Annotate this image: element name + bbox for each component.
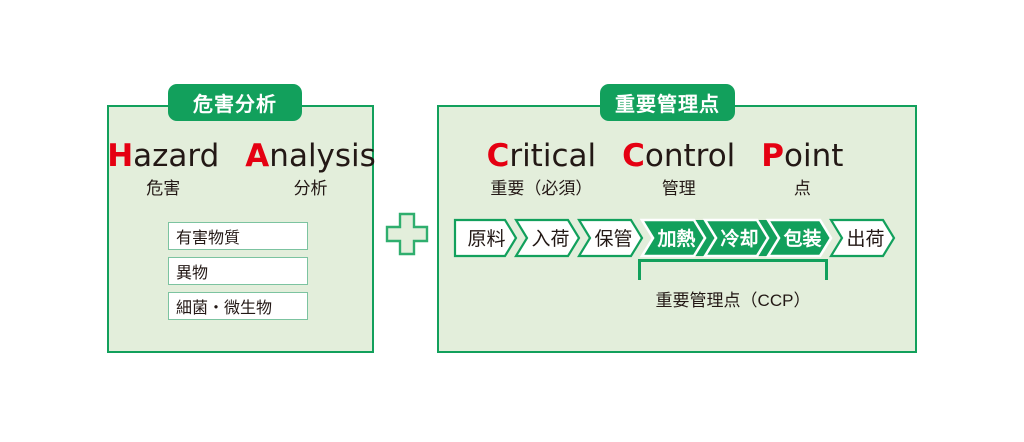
acronym-english-hazard: Hazard <box>107 138 219 174</box>
acronym-term-analysis: Analysis 分析 <box>245 138 376 201</box>
process-step[interactable]: 加熱 <box>642 220 705 256</box>
acronym-initial-h: H <box>107 138 133 174</box>
acronym-initial-p: P <box>761 138 784 174</box>
list-item: 有害物質 <box>168 222 308 250</box>
acronym-rest-control: ontrol <box>645 138 735 174</box>
process-step-label: 原料 <box>467 228 505 250</box>
acronym-term-control: Control 管理 <box>622 138 735 201</box>
process-step-label: 保管 <box>594 228 632 250</box>
list-item: 異物 <box>168 257 308 285</box>
acronym-initial-a: A <box>245 138 269 174</box>
acronym-english-analysis: Analysis <box>245 138 376 174</box>
ccp-bracket-icon <box>638 259 828 281</box>
acronym-term-hazard: Hazard 危害 <box>107 138 219 201</box>
list-item: 細菌・微生物 <box>168 292 308 320</box>
hazard-analysis-badge: 危害分析 <box>168 84 302 121</box>
plus-icon <box>385 212 429 256</box>
acronym-term-critical: Critical 重要（必須） <box>487 138 597 201</box>
hazard-acronym-row: Hazard 危害 Analysis 分析 <box>114 138 369 201</box>
acronym-rest-critical: ritical <box>509 138 596 174</box>
acronym-initial-c2: C <box>622 138 645 174</box>
acronym-english-point: Point <box>761 138 843 174</box>
acronym-english-control: Control <box>622 138 735 174</box>
process-step-label: 包装 <box>783 227 821 250</box>
acronym-rest-point: oint <box>784 138 843 174</box>
process-step-label: 出荷 <box>846 228 884 250</box>
process-step-label: 入荷 <box>531 228 569 250</box>
process-step[interactable]: 入荷 <box>516 220 579 256</box>
process-step[interactable]: 出荷 <box>831 220 894 256</box>
acronym-reading-point: 点 <box>761 177 843 201</box>
hazard-item-list: 有害物質 異物 細菌・微生物 <box>168 222 308 320</box>
acronym-english-critical: Critical <box>487 138 597 174</box>
process-step[interactable]: 保管 <box>579 220 642 256</box>
critical-control-point-badge: 重要管理点 <box>600 84 735 121</box>
process-step-label: 冷却 <box>720 227 758 250</box>
acronym-rest-analysis: nalysis <box>269 138 376 174</box>
process-step-label: 加熱 <box>656 227 695 250</box>
acronym-term-point: Point 点 <box>761 138 843 201</box>
acronym-reading-hazard: 危害 <box>107 177 219 201</box>
acronym-reading-control: 管理 <box>622 177 735 201</box>
ccp-caption: 重要管理点（CCP） <box>618 286 848 311</box>
ccp-acronym-row: Critical 重要（必須） Control 管理 Point 点 <box>455 138 875 201</box>
acronym-reading-critical: 重要（必須） <box>487 177 597 201</box>
process-step[interactable]: 原料 <box>455 220 516 256</box>
acronym-reading-analysis: 分析 <box>245 177 376 201</box>
acronym-initial-c1: C <box>487 138 510 174</box>
process-flow-chevrons: 原料入荷保管加熱冷却包装出荷 <box>453 218 903 258</box>
acronym-rest-hazard: azard <box>133 138 219 174</box>
